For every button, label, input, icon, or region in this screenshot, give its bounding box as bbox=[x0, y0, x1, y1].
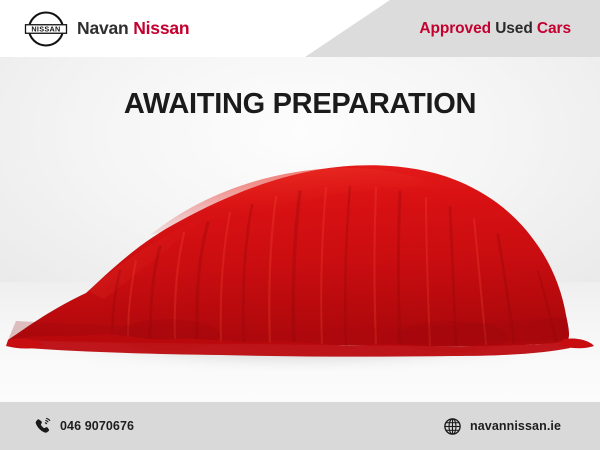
phone-number: 046 9070676 bbox=[60, 420, 134, 433]
svg-text:NISSAN: NISSAN bbox=[31, 24, 60, 33]
nissan-logo-icon: NISSAN bbox=[24, 10, 68, 48]
brand-lockup: NISSAN Navan Nissan bbox=[24, 10, 189, 48]
website-url: navannissan.ie bbox=[470, 420, 561, 433]
footer-phone-contact[interactable]: 046 9070676 bbox=[33, 402, 134, 450]
listing-image: NISSAN Navan Nissan Approved Used Cars A… bbox=[0, 0, 600, 450]
approved-used-cars-badge: Approved Used Cars bbox=[419, 0, 571, 57]
footer-bar: 046 9070676 navannissan.ie bbox=[0, 402, 600, 450]
brand-name: Navan Nissan bbox=[77, 20, 189, 38]
brand-name-second: Nissan bbox=[133, 18, 189, 38]
footer-website-link[interactable]: navannissan.ie bbox=[443, 402, 561, 450]
used-word: Used bbox=[495, 20, 533, 37]
brand-name-first: Navan bbox=[77, 18, 129, 38]
header-bar: NISSAN Navan Nissan Approved Used Cars bbox=[0, 0, 600, 57]
phone-icon bbox=[33, 417, 52, 436]
approved-word: Approved bbox=[419, 20, 491, 37]
cars-word: Cars bbox=[537, 20, 571, 37]
globe-icon bbox=[443, 417, 462, 436]
photo-stage: AWAITING PREPARATION bbox=[0, 57, 600, 402]
page-title: AWAITING PREPARATION bbox=[0, 90, 600, 119]
